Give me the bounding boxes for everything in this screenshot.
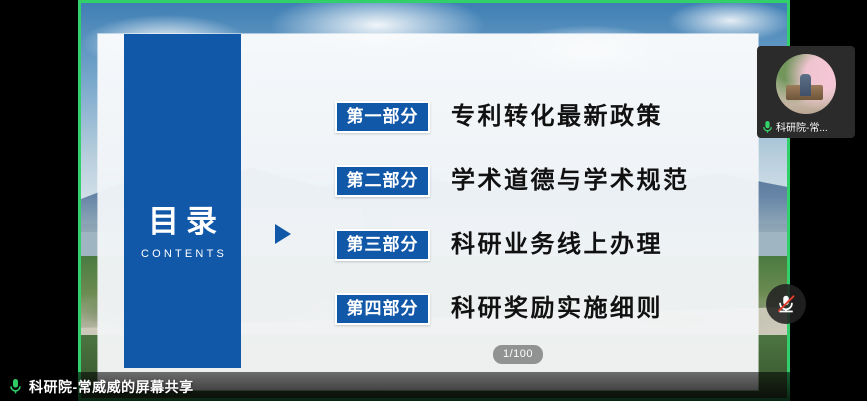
agenda-text-1: 专利转化最新政策 — [451, 105, 663, 129]
agenda-badge-2: 第二部分 — [335, 165, 430, 197]
play-triangle-icon — [275, 224, 291, 244]
screen-share-status-bar: 科研院-常威威的屏幕共享 — [0, 372, 867, 401]
conference-stage: 目录 CONTENTS 第一部分 专利转化最新政策 第二部分 学术道德与学术规范… — [0, 0, 867, 401]
list-item: 第三部分 科研业务线上办理 — [335, 230, 735, 260]
screen-share-status-label: 科研院-常威威的屏幕共享 — [29, 377, 194, 397]
toc-sidebar: 目录 CONTENTS — [124, 34, 241, 368]
microphone-active-icon — [762, 120, 773, 134]
list-item: 第二部分 学术道德与学术规范 — [335, 166, 735, 196]
agenda-text-3: 科研业务线上办理 — [451, 233, 663, 257]
list-item: 第四部分 科研奖励实施细则 — [335, 294, 735, 324]
presentation-slide[interactable]: 目录 CONTENTS 第一部分 专利转化最新政策 第二部分 学术道德与学术规范… — [98, 34, 758, 390]
avatar-person-shape — [800, 74, 811, 96]
shared-screen-region: 目录 CONTENTS 第一部分 专利转化最新政策 第二部分 学术道德与学术规范… — [78, 0, 790, 401]
microphone-active-icon — [9, 378, 22, 395]
avatar — [776, 54, 836, 114]
participant-thumbnail[interactable]: 科研院-常... — [757, 46, 855, 138]
toc-subtitle: CONTENTS — [138, 248, 227, 260]
participant-label: 科研院-常... — [757, 119, 855, 134]
page-indicator: 1/100 — [493, 345, 543, 364]
list-item: 第一部分 专利转化最新政策 — [335, 102, 735, 132]
agenda-list: 第一部分 专利转化最新政策 第二部分 学术道德与学术规范 第三部分 科研业务线上… — [335, 102, 735, 358]
participant-name: 科研院-常... — [776, 119, 828, 134]
agenda-badge-4: 第四部分 — [335, 293, 430, 325]
agenda-badge-1: 第一部分 — [335, 101, 430, 133]
agenda-text-2: 学术道德与学术规范 — [451, 169, 690, 193]
microphone-muted-icon[interactable] — [766, 284, 806, 324]
agenda-badge-3: 第三部分 — [335, 229, 430, 261]
toc-title: 目录 — [141, 206, 224, 237]
agenda-text-4: 科研奖励实施细则 — [451, 297, 663, 321]
